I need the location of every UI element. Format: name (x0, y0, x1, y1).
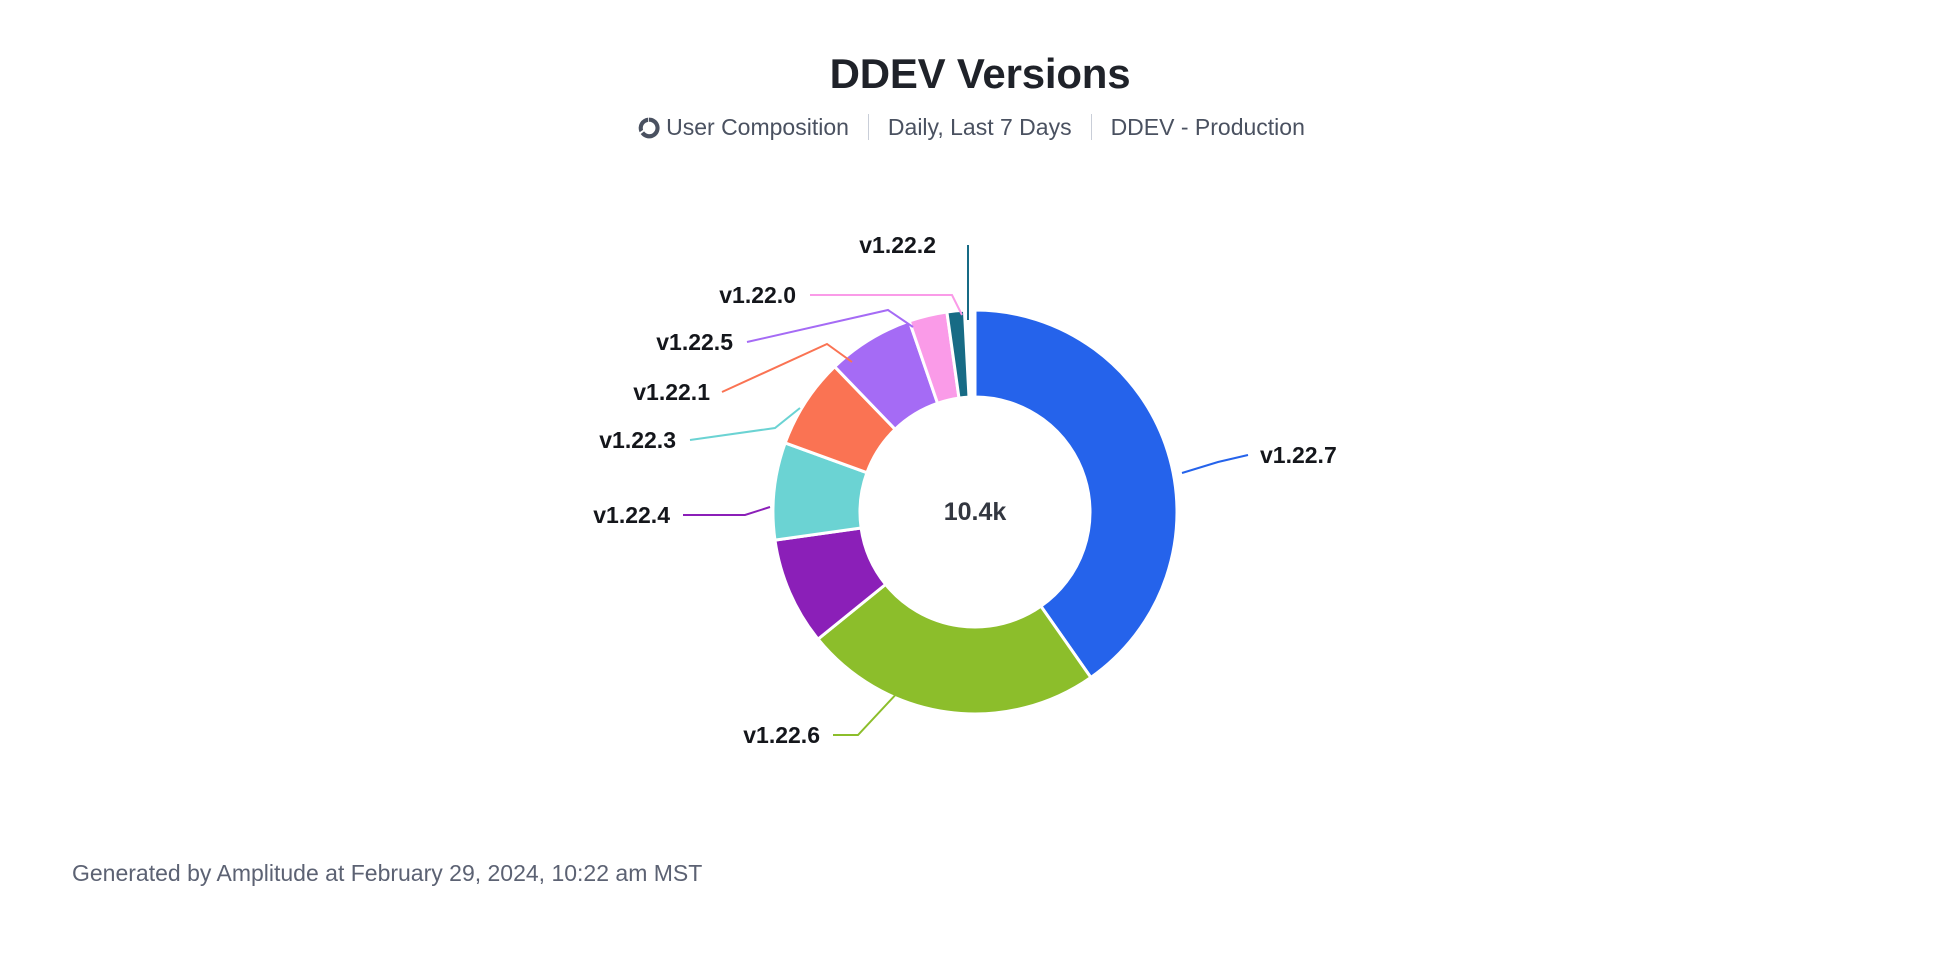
donut-slice-v1-22-5[interactable] (835, 321, 938, 429)
leader-line-v1-22-4 (683, 507, 770, 515)
leader-line-v1-22-3 (690, 408, 800, 440)
donut-chart-svg: v1.22.7v1.22.6v1.22.4v1.22.3v1.22.1v1.22… (0, 0, 1960, 960)
subtitle-interval-label: Daily, Last 7 Days (888, 116, 1072, 139)
slice-label-v1-22-4: v1.22.4 (593, 502, 670, 528)
donut-slice-v1-22-2[interactable] (947, 310, 969, 398)
subtitle-source: DDEV - Production (1092, 116, 1324, 139)
slice-label-v1-22-7: v1.22.7 (1260, 442, 1337, 468)
subtitle-interval: Daily, Last 7 Days (869, 116, 1091, 139)
donut-chart: v1.22.7v1.22.6v1.22.4v1.22.3v1.22.1v1.22… (0, 0, 1960, 960)
leader-line-v1-22-1 (722, 344, 852, 392)
donut-slice-labels: v1.22.7v1.22.6v1.22.4v1.22.3v1.22.1v1.22… (593, 232, 1337, 748)
donut-slice-v1-22-3[interactable] (773, 443, 867, 540)
slice-label-v1-22-1: v1.22.1 (633, 379, 710, 405)
chart-subtitle: User Composition Daily, Last 7 Days DDEV… (0, 114, 1960, 140)
donut-center-total: 10.4k (944, 498, 1007, 526)
subtitle-metric: User Composition (636, 114, 868, 140)
chart-page: DDEV Versions User Composition Daily, La… (0, 0, 1960, 960)
donut-leader-lines (683, 245, 1248, 735)
donut-slice-v1-22-7[interactable] (975, 310, 1177, 677)
leader-line-v1-22-0 (810, 295, 962, 315)
donut-slice-v1-22-6[interactable] (818, 584, 1091, 714)
generated-by-footer: Generated by Amplitude at February 29, 2… (72, 860, 702, 887)
donut-slice-v1-22-0[interactable] (909, 312, 959, 403)
slice-label-v1-22-3: v1.22.3 (599, 427, 676, 453)
chart-header: DDEV Versions User Composition Daily, La… (0, 0, 1960, 140)
slice-label-v1-22-6: v1.22.6 (743, 722, 820, 748)
donut-chart-icon (636, 115, 662, 141)
leader-line-v1-22-7 (1182, 455, 1248, 473)
donut-slice-v1-22-1[interactable] (785, 367, 895, 473)
subtitle-source-label: DDEV - Production (1111, 116, 1305, 139)
slice-label-v1-22-5: v1.22.5 (656, 329, 733, 355)
leader-line-v1-22-6 (833, 690, 900, 735)
donut-slice-v1-22-4[interactable] (775, 528, 886, 639)
donut-slices (773, 310, 1177, 714)
slice-label-v1-22-2: v1.22.2 (859, 232, 936, 258)
slice-label-v1-22-0: v1.22.0 (719, 282, 796, 308)
page-title: DDEV Versions (0, 0, 1960, 98)
subtitle-metric-label: User Composition (666, 116, 849, 139)
leader-line-v1-22-5 (747, 310, 913, 342)
